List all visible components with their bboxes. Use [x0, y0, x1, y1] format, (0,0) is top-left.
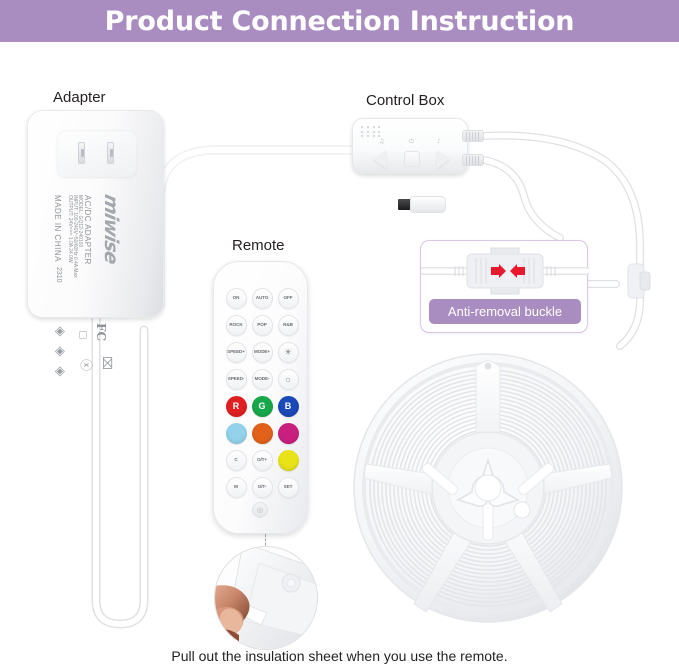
remote-button-on[interactable]: ON — [226, 288, 247, 309]
product-instruction-page: Product Connection Instruction Adapter M… — [0, 0, 679, 672]
usb-connector-shell — [410, 196, 446, 213]
remote-button-color-17[interactable] — [278, 423, 299, 444]
fcc-mark: FC — [94, 323, 108, 341]
cert-square-icon: □ — [78, 331, 90, 338]
remote-button-mode[interactable]: MODE- — [252, 369, 273, 390]
remote-button-color-15[interactable] — [226, 423, 247, 444]
adapter-type-text: AC/DC ADAPTER — [83, 195, 92, 265]
remote-button-speed[interactable]: SPEED+ — [226, 342, 247, 363]
remote-button-w[interactable]: W — [226, 477, 247, 498]
remote-button-set[interactable]: SET — [278, 477, 299, 498]
adapter-label: Adapter — [53, 89, 106, 106]
remote-button-c[interactable]: C — [226, 450, 247, 471]
buckle-diagram — [421, 245, 589, 297]
mic-icon: ♫ — [379, 138, 384, 145]
power-icon: ⏻ — [409, 138, 414, 146]
adapter-year-code: 2310 — [55, 267, 62, 283]
adapter-certification-marks: FC ◈ ◈ ◈ □ ⓧ ⌧ — [52, 319, 138, 389]
adapter-origin-text: MADE IN CHINA — [53, 195, 62, 262]
control-box-label: Control Box — [366, 92, 444, 109]
anti-removal-buckle-panel: Anti-removal buckle — [420, 240, 588, 333]
power-adapter: MADE IN CHINA 2310 OUTPUT: 24V=== 1.0A 2… — [27, 110, 164, 318]
adapter-brand-wordmark: miwise — [100, 192, 122, 265]
adapter-prong-plate — [57, 130, 137, 177]
remote-button-b[interactable]: B — [278, 396, 299, 417]
prev-button[interactable] — [373, 150, 386, 168]
footer-caption: Pull out the insulation sheet when you u… — [0, 648, 679, 664]
usb-plug — [398, 196, 446, 213]
page-title: Product Connection Instruction — [105, 6, 575, 37]
insulation-sheet-inset — [214, 546, 318, 650]
anti-removal-buckle-caption: Anti-removal buckle — [429, 299, 581, 324]
cert-waste-bin-icon: ⌧ — [101, 356, 113, 370]
remote-button-[interactable]: ☼ — [278, 369, 299, 390]
cert-glyph-icon: ◈ — [55, 327, 68, 337]
remote-button-color-20[interactable] — [278, 450, 299, 471]
remote-button-o-t[interactable]: O/T- — [252, 477, 273, 498]
insulation-sheet-illustration — [215, 547, 318, 650]
remote-button-color-16[interactable] — [252, 423, 273, 444]
remote-button-pop[interactable]: POP — [252, 315, 273, 336]
remote-button-rock[interactable]: ROCK — [226, 315, 247, 336]
cert-circle-icon: ⓧ — [80, 359, 92, 371]
cert-glyph-icon: ◈ — [55, 367, 68, 377]
remote-button-r[interactable]: R — [226, 396, 247, 417]
play-button[interactable] — [404, 151, 420, 167]
control-box: ♫ ⏻ ♪ — [352, 118, 468, 174]
remote-button-auto[interactable]: AUTO — [252, 288, 273, 309]
music-icon: ♪ — [437, 138, 441, 145]
remote-center-button[interactable]: ◎ — [252, 502, 268, 518]
remote-button-mode[interactable]: MODE+ — [252, 342, 273, 363]
led-strip-reel — [352, 352, 624, 624]
remote-button-g[interactable]: G — [252, 396, 273, 417]
remote-button-speed[interactable]: SPEED- — [226, 369, 247, 390]
remote-label: Remote — [232, 237, 285, 254]
next-button[interactable] — [437, 150, 450, 168]
control-box-output-port-1 — [462, 130, 484, 142]
remote-button-o-t[interactable]: O/T+ — [252, 450, 273, 471]
remote-button-grid: ONAUTOOFFROCKPOPR&BSPEED+MODE+☀SPEED-MOD… — [225, 288, 299, 498]
remote-button-off[interactable]: OFF — [278, 288, 299, 309]
remote-control: ONAUTOOFFROCKPOPR&BSPEED+MODE+☀SPEED-MOD… — [213, 261, 308, 534]
cert-glyph-icon: ◈ — [55, 347, 68, 357]
control-box-output-port-2 — [462, 154, 484, 166]
header-bar: Product Connection Instruction — [0, 0, 679, 42]
remote-button-[interactable]: ☀ — [278, 342, 299, 363]
remote-button-r-b[interactable]: R&B — [278, 315, 299, 336]
adapter-prong-left — [78, 142, 85, 164]
adapter-rating-label: MADE IN CHINA 2310 OUTPUT: 24V=== 1.0A 2… — [52, 191, 140, 309]
adapter-prong-right — [107, 142, 114, 164]
